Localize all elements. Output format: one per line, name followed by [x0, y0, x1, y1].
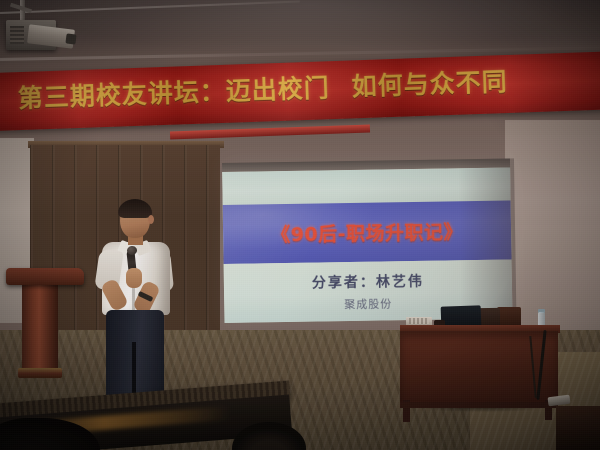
projection-screen: 《90后-职场升职记》 分享者：林艺伟 聚成股份 [222, 158, 512, 323]
foreground-chair-silhouette [556, 406, 600, 450]
lecture-hall-photo: 第三期校友讲坛：迈出校门如何与众不同 《90后-职场升职记》 分享者：林艺伟 聚… [0, 0, 600, 450]
podium-column [22, 283, 58, 376]
speaker-hair [118, 199, 152, 218]
table-bottom-rail [400, 402, 558, 408]
speaker-hand [126, 268, 142, 288]
slide-band-top [222, 167, 510, 205]
white-device-label [409, 318, 429, 324]
speaker-ear [148, 215, 154, 224]
projector-vent [10, 26, 24, 44]
slide-title: 《90后-职场升职记》 [223, 216, 511, 248]
presentation-slide: 《90后-职场升职记》 分享者：林艺伟 聚成股份 [222, 167, 512, 323]
podium-lectern-top [6, 268, 84, 285]
projector-lens [65, 33, 76, 44]
podium-base [18, 368, 62, 378]
